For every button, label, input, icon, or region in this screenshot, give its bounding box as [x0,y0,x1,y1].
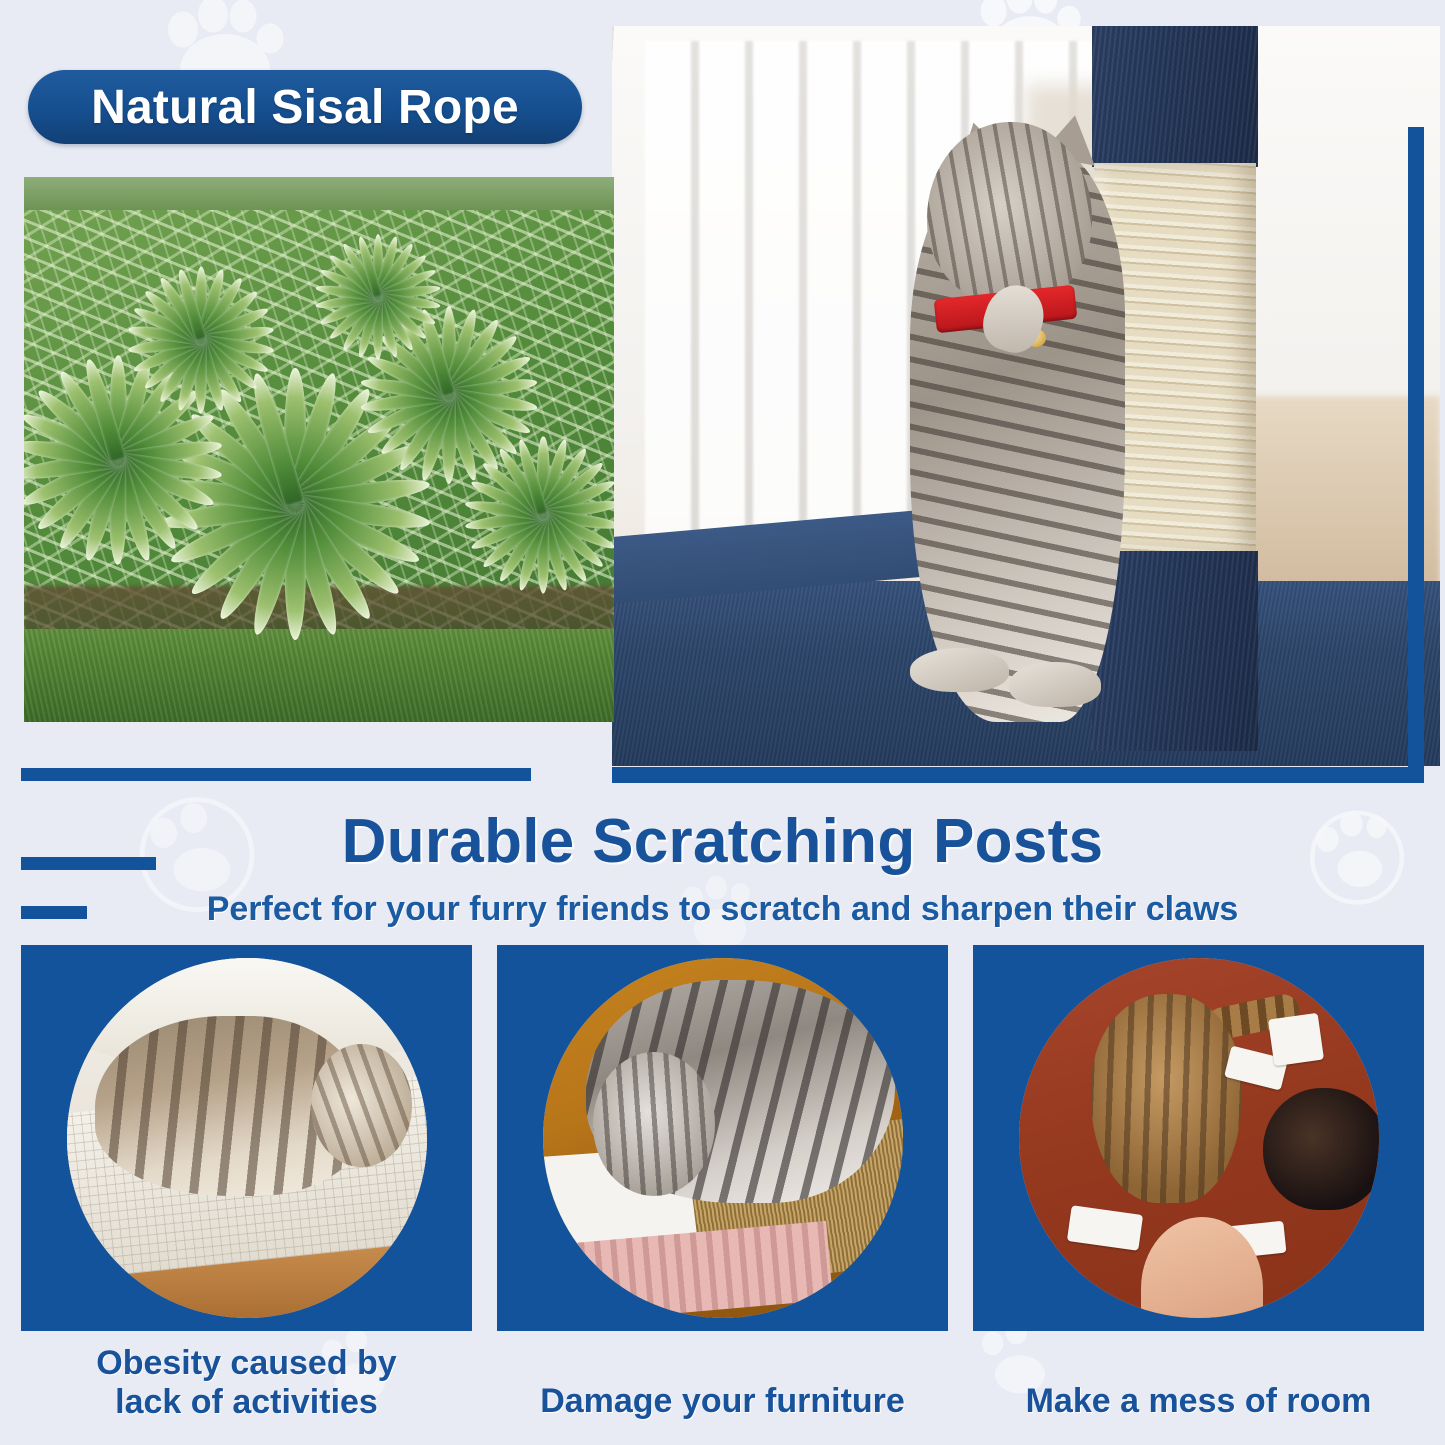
problem-panel-furniture [497,945,948,1331]
photo-frame-right-bar [1408,127,1424,783]
kitten-scratching-post-photo [612,26,1440,766]
sisal-agave-plants-photo [24,177,614,722]
badge-label: Natural Sisal Rope [91,80,519,135]
caption-furniture-line1: Damage your furniture [497,1382,948,1421]
agave-rosette [118,264,283,417]
natural-sisal-rope-badge: Natural Sisal Rope [28,70,582,144]
caption-obesity-line2: lack of activities [21,1383,472,1422]
section-subheading: Perfect for your furry friends to scratc… [0,890,1445,929]
problem-panel-obesity [21,945,472,1331]
cats-shredded-paper-mess-photo [1019,958,1379,1318]
panel-captions-row: Obesity caused by lack of activities Dam… [21,1344,1424,1444]
decorative-bar-1 [21,768,531,781]
caption-furniture: Damage your furniture [497,1344,948,1444]
problem-panel-mess [973,945,1424,1331]
section-heading: Durable Scratching Posts [0,806,1445,877]
problem-panels-row [21,945,1424,1331]
infographic-canvas: Natural Sisal Rope Durable Scratching Po… [0,0,1445,1445]
obese-cat-sleeping-photo [67,958,427,1318]
caption-obesity: Obesity caused by lack of activities [21,1344,472,1444]
photo-frame-bottom-bar [612,767,1424,783]
caption-obesity-line1: Obesity caused by [21,1344,472,1383]
caption-mess: Make a mess of room [973,1344,1424,1444]
caption-mess-line1: Make a mess of room [973,1382,1424,1421]
cat-scratching-cardboard-photo [543,958,903,1318]
agave-rosette [307,232,449,363]
